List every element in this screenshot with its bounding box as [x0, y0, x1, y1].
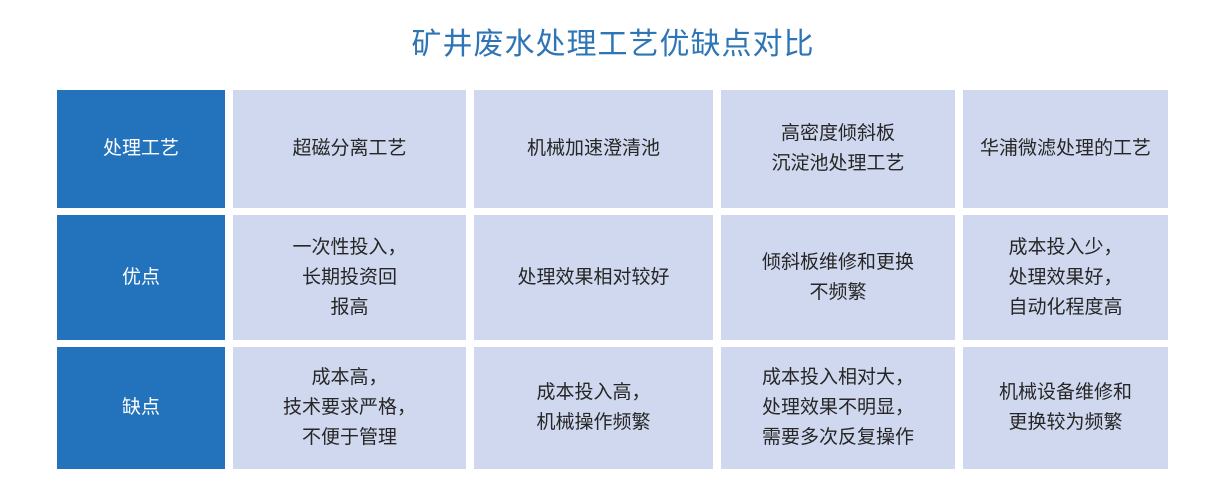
header-cell-process-2: 机械加速澄清池 [474, 90, 713, 208]
disadvantages-cell-4: 机械设备维修和 更换较为频繁 [963, 347, 1168, 469]
advantages-cell-3: 倾斜板维修和更换 不频繁 [721, 215, 955, 340]
disadvantages-cell-2: 成本投入高， 机械操作频繁 [474, 347, 713, 469]
disadvantages-cell-1: 成本高， 技术要求严格， 不便于管理 [233, 347, 466, 469]
table-row-advantages: 优点 一次性投入， 长期投资回 报高 处理效果相对较好 倾斜板维修和更换 不频繁… [57, 215, 1168, 340]
disadvantages-cell-3: 成本投入相对大， 处理效果不明显， 需要多次反复操作 [721, 347, 955, 469]
header-cell-process-3: 高密度倾斜板 沉淀池处理工艺 [721, 90, 955, 208]
advantages-cell-1: 一次性投入， 长期投资回 报高 [233, 215, 466, 340]
row-header-label-process: 处理工艺 [57, 90, 225, 208]
page-title: 矿井废水处理工艺优缺点对比 [0, 26, 1226, 64]
table-row-disadvantages: 缺点 成本高， 技术要求严格， 不便于管理 成本投入高， 机械操作频繁 成本投入… [57, 347, 1168, 469]
advantages-cell-2: 处理效果相对较好 [474, 215, 713, 340]
comparison-table-page: 矿井废水处理工艺优缺点对比 处理工艺 超磁分离工艺 机械加速澄清池 高密度倾斜板… [0, 0, 1226, 485]
advantages-cell-4: 成本投入少， 处理效果好， 自动化程度高 [963, 215, 1168, 340]
header-cell-process-1: 超磁分离工艺 [233, 90, 466, 208]
header-cell-process-4: 华浦微滤处理的工艺 [963, 90, 1168, 208]
table-row-header: 处理工艺 超磁分离工艺 机械加速澄清池 高密度倾斜板 沉淀池处理工艺 华浦微滤处… [57, 90, 1168, 208]
comparison-table: 处理工艺 超磁分离工艺 机械加速澄清池 高密度倾斜板 沉淀池处理工艺 华浦微滤处… [57, 90, 1168, 469]
row-header-label-advantages: 优点 [57, 215, 225, 340]
row-header-label-disadvantages: 缺点 [57, 347, 225, 469]
